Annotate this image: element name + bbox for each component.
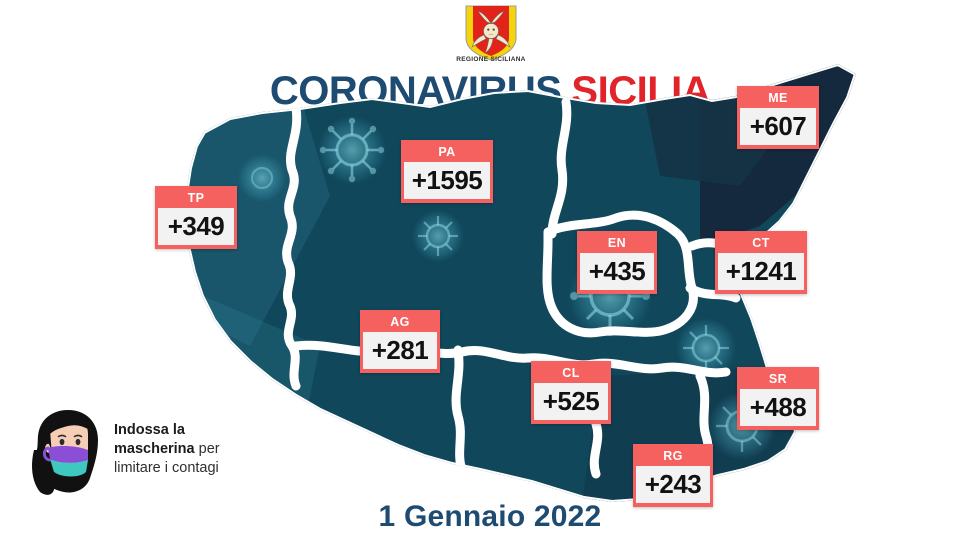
- badge-TP[interactable]: TP +349: [155, 186, 237, 249]
- infographic-page: REGIONE SICILIANA CORONAVIRUSSICILIA: [0, 0, 980, 551]
- badge-code: PA: [404, 143, 490, 162]
- badge-code: EN: [580, 234, 654, 253]
- mask-notice-line3: limitare i contagi: [114, 460, 219, 476]
- badge-code: TP: [158, 189, 234, 208]
- badge-code: RG: [636, 447, 710, 466]
- badge-value: +435: [580, 253, 654, 290]
- badge-value: +349: [158, 208, 234, 245]
- mask-notice: Indossa la mascherina per limitare i con…: [18, 404, 268, 500]
- badge-EN[interactable]: EN +435: [577, 231, 657, 294]
- badge-CT[interactable]: CT +1241: [715, 231, 807, 294]
- badge-CL[interactable]: CL +525: [531, 361, 611, 424]
- badge-code: SR: [740, 370, 816, 389]
- badge-value: +281: [363, 332, 437, 369]
- badge-code: ME: [740, 89, 816, 108]
- badge-value: +1595: [404, 162, 490, 199]
- badge-value: +1241: [718, 253, 804, 290]
- badge-value: +243: [636, 466, 710, 503]
- mask-notice-line1: Indossa la: [114, 422, 185, 438]
- date-label: 1 Gennaio 2022: [0, 500, 980, 534]
- badge-value: +607: [740, 108, 816, 145]
- badge-value: +525: [534, 383, 608, 420]
- badge-PA[interactable]: PA +1595: [401, 140, 493, 203]
- mask-notice-line2-rest: per: [195, 441, 220, 457]
- mask-notice-text: Indossa la mascherina per limitare i con…: [114, 421, 274, 478]
- badge-AG[interactable]: AG +281: [360, 310, 440, 373]
- masked-woman-svg: [18, 404, 110, 496]
- badge-ME[interactable]: ME +607: [737, 86, 819, 149]
- badge-value: +488: [740, 389, 816, 426]
- badge-code: CT: [718, 234, 804, 253]
- badge-SR[interactable]: SR +488: [737, 367, 819, 430]
- badge-code: AG: [363, 313, 437, 332]
- badge-code: CL: [534, 364, 608, 383]
- masked-woman-icon: [18, 404, 110, 496]
- mask-notice-line2-bold: mascherina: [114, 441, 195, 457]
- badge-RG[interactable]: RG +243: [633, 444, 713, 507]
